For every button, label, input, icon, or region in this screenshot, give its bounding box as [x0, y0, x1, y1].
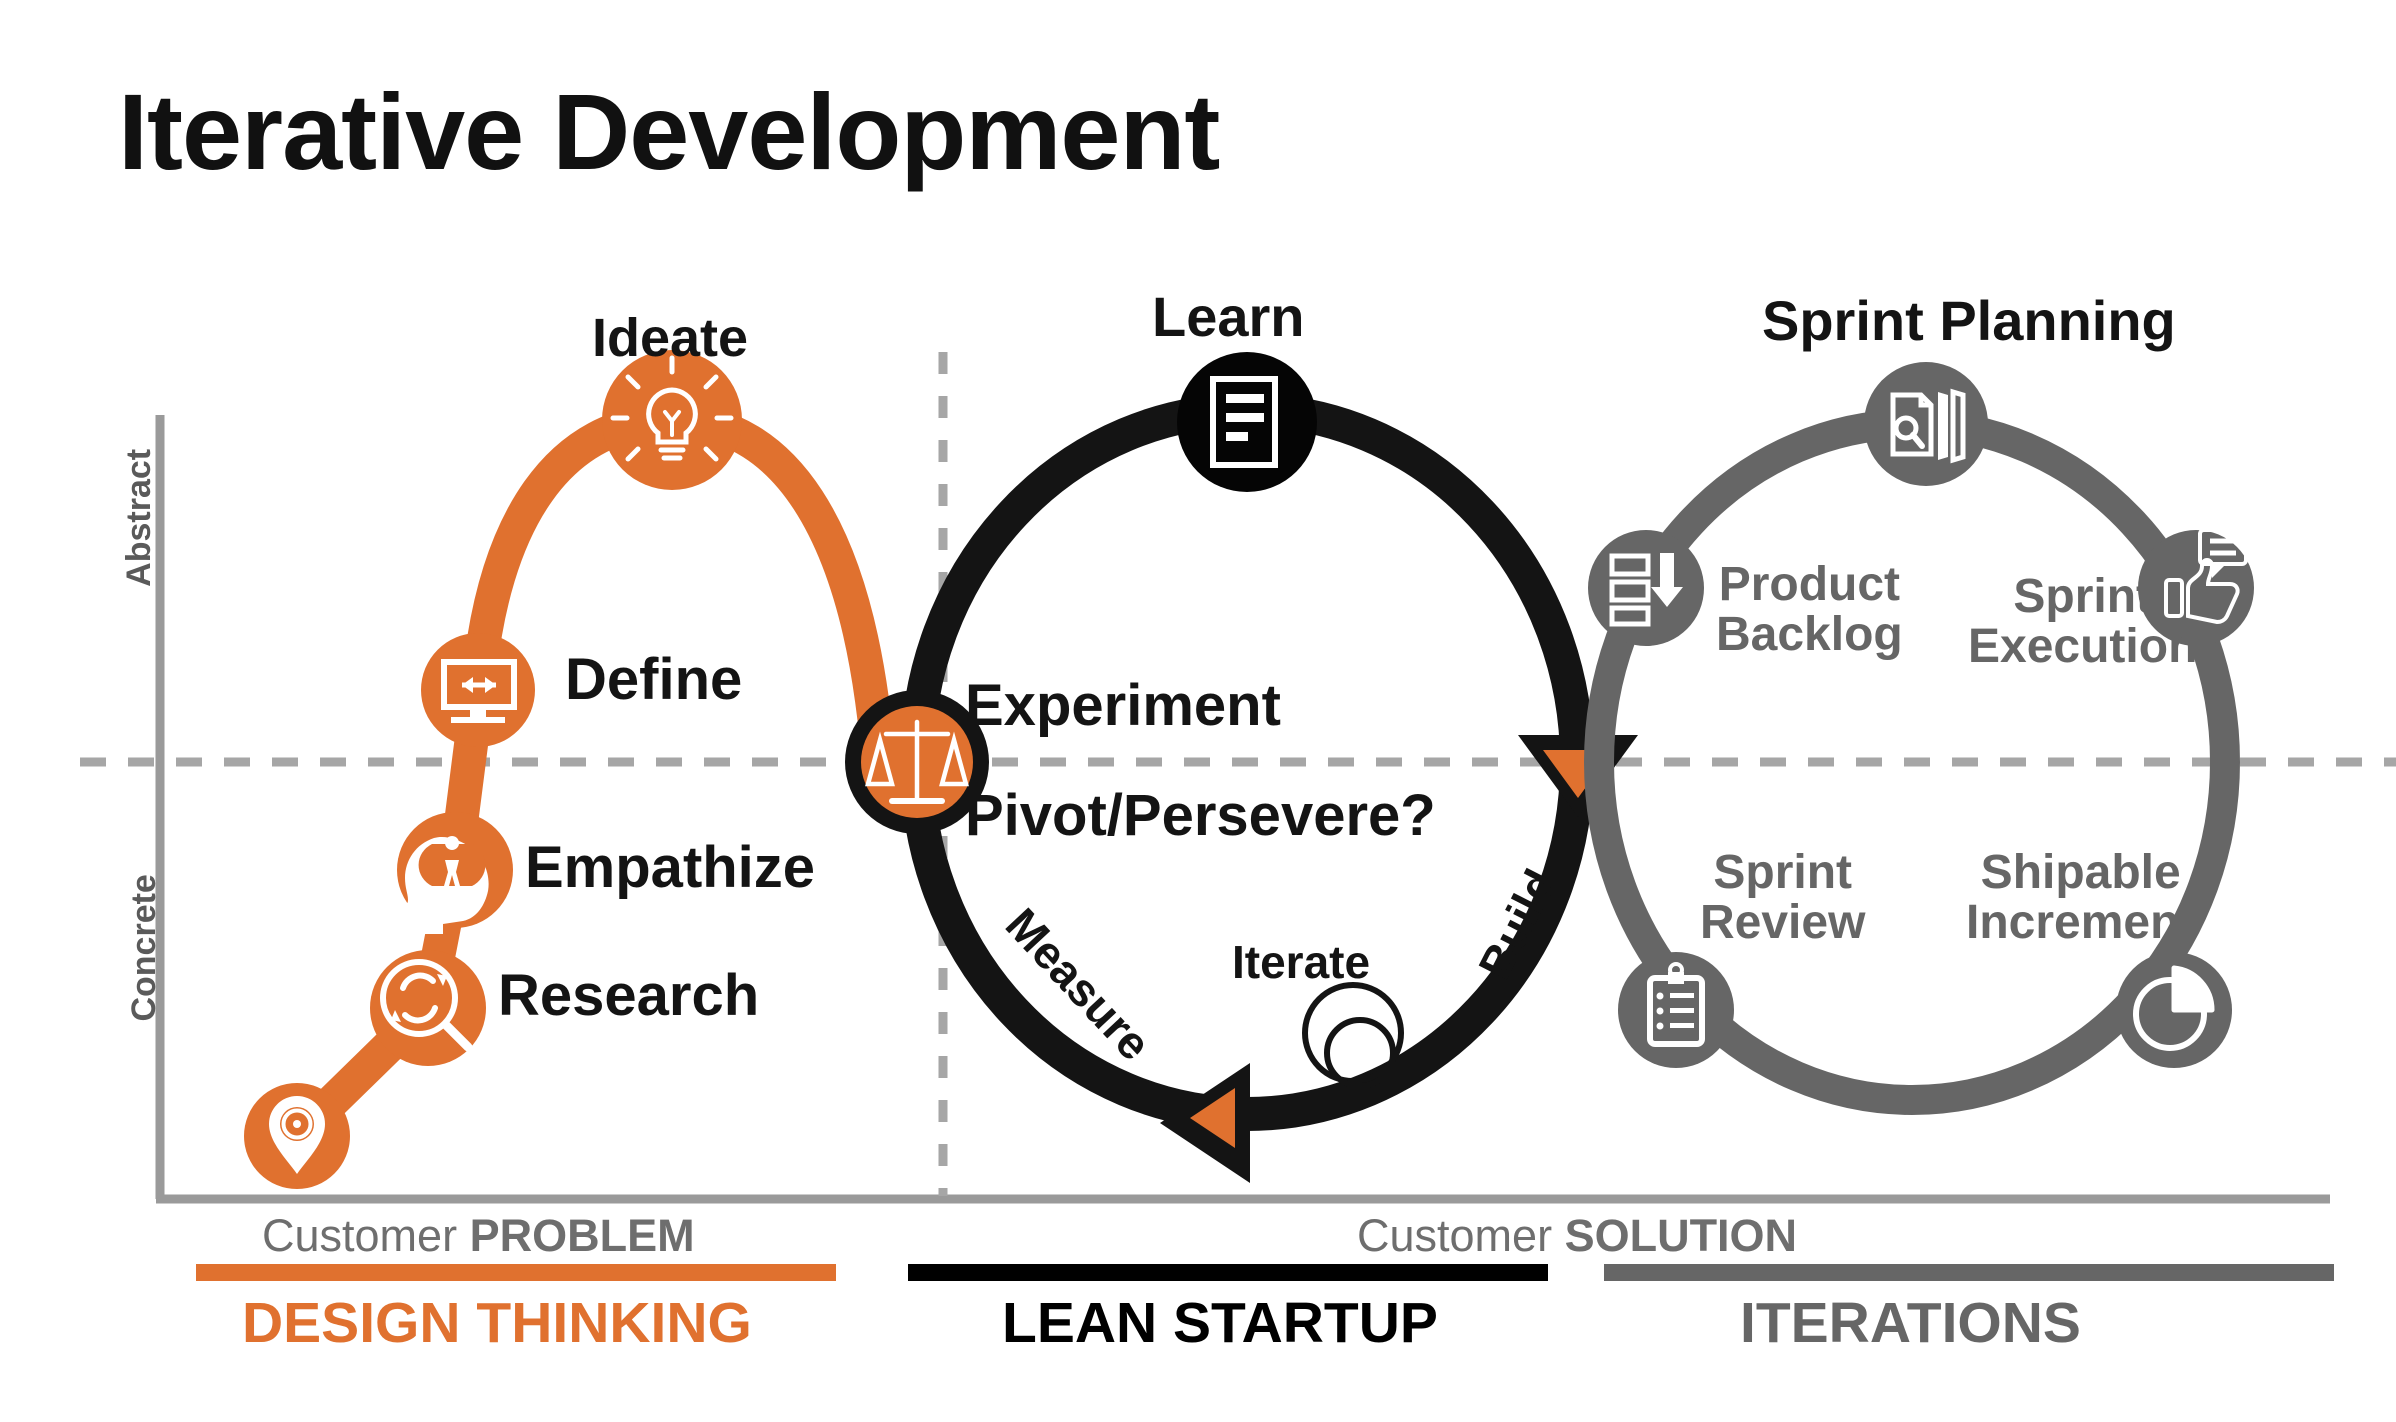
- dt-label-define: Define: [565, 650, 742, 711]
- it-label-sprint-execution-line2: Execution: [1968, 622, 2197, 672]
- it-label-shipable-increment: Shipable Increment: [1966, 848, 2195, 949]
- iterations-bar: [1604, 1264, 2334, 1281]
- it-label-product-backlog: Product Backlog: [1716, 560, 1903, 661]
- caption-problem-emphasis: PROBLEM: [470, 1210, 695, 1261]
- diagram-canvas: Iterative Development: [0, 0, 2396, 1422]
- dt-label-ideate: Ideate: [592, 310, 748, 367]
- it-label-shipable-increment-line2: Increment: [1966, 898, 2195, 948]
- lean-startup-bar: [908, 1264, 1548, 1281]
- lean-label-experiment: Experiment: [965, 676, 1281, 737]
- it-label-sprint-review-line1: Sprint: [1700, 848, 1865, 898]
- it-label-sprint-review: Sprint Review: [1700, 848, 1865, 949]
- it-label-sprint-planning: Sprint Planning: [1762, 292, 2176, 351]
- lean-bottom-arrow: [1160, 1063, 1250, 1183]
- iterate-two-circles-icon: [1305, 985, 1401, 1086]
- caption-solution-prefix: Customer: [1357, 1210, 1565, 1261]
- dt-label-empathize: Empathize: [525, 838, 815, 899]
- lean-node-learn[interactable]: [1177, 352, 1317, 492]
- it-node-sprint-review[interactable]: [1618, 952, 1734, 1068]
- it-label-sprint-execution-line1: Sprint: [1968, 572, 2197, 622]
- caption-problem-prefix: Customer: [262, 1210, 470, 1261]
- lean-label-iterate: Iterate: [1232, 938, 1370, 986]
- caption-customer-solution: Customer SOLUTION: [1357, 1212, 1797, 1259]
- design-thinking-bar: [196, 1264, 836, 1281]
- it-label-product-backlog-line1: Product: [1716, 560, 1903, 610]
- dt-node-ideate[interactable]: [602, 350, 742, 490]
- it-node-sprint-planning[interactable]: [1864, 362, 1988, 486]
- it-label-sprint-review-line2: Review: [1700, 898, 1865, 948]
- it-label-shipable-increment-line1: Shipable: [1966, 848, 2195, 898]
- it-node-shipable-increment[interactable]: [2116, 952, 2232, 1068]
- dt-label-research: Research: [498, 966, 759, 1027]
- section-title-lean-startup: LEAN STARTUP: [1002, 1294, 1438, 1354]
- caption-solution-emphasis: SOLUTION: [1565, 1210, 1798, 1261]
- section-title-design-thinking: DESIGN THINKING: [242, 1294, 752, 1354]
- section-title-iterations: ITERATIONS: [1740, 1294, 2081, 1354]
- lean-to-iterations-arrow: [1518, 735, 1638, 817]
- dt-node-empathize[interactable]: [397, 812, 513, 934]
- dt-node-research[interactable]: [370, 950, 486, 1066]
- caption-customer-problem: Customer PROBLEM: [262, 1212, 695, 1259]
- dt-node-pin[interactable]: [244, 1083, 350, 1189]
- it-label-product-backlog-line2: Backlog: [1716, 610, 1903, 660]
- axis-label-concrete: Concrete: [127, 843, 163, 1053]
- dt-node-define[interactable]: [421, 633, 535, 747]
- it-label-sprint-execution: Sprint Execution: [1968, 572, 2197, 673]
- axis-label-abstract: Abstract: [122, 418, 158, 618]
- it-node-product-backlog[interactable]: [1588, 530, 1704, 646]
- lean-label-pivot-persevere: Pivot/Persevere?: [965, 786, 1436, 847]
- lean-label-learn: Learn: [1152, 288, 1305, 347]
